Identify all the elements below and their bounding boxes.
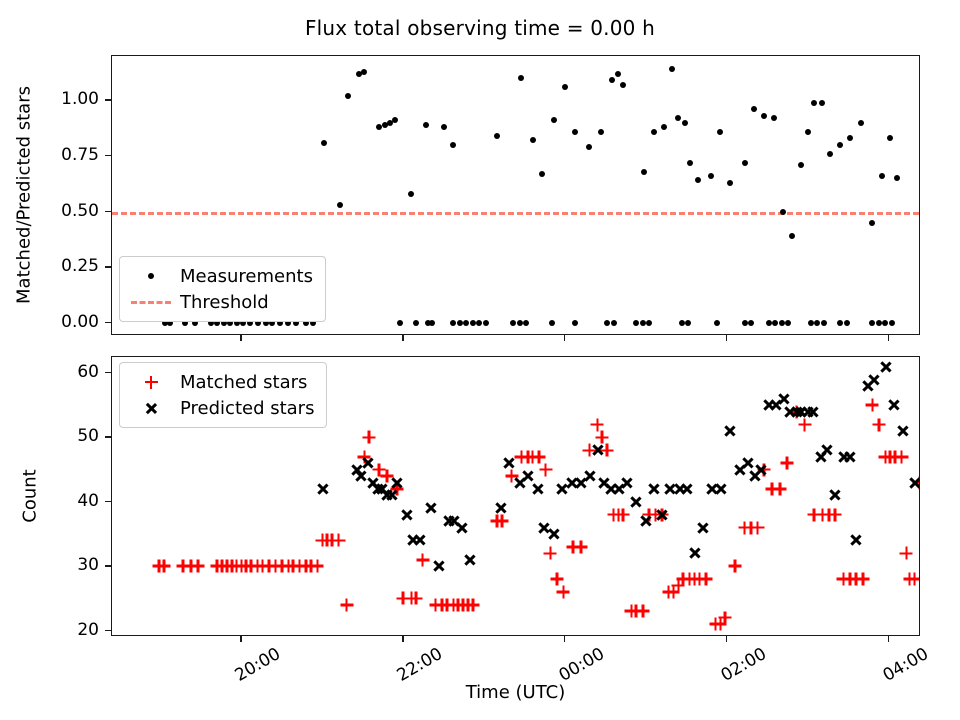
- data-point-predicted-star: [513, 476, 526, 489]
- data-point-matched-star: [326, 534, 339, 547]
- data-point-predicted-star: [814, 450, 827, 463]
- data-point-measurement: [766, 320, 772, 326]
- data-point-measurement: [695, 177, 701, 183]
- data-point-predicted-star: [350, 463, 363, 476]
- legend-item-matched-stars: Matched stars: [128, 369, 314, 395]
- x-tick-label: 20:00: [232, 644, 284, 686]
- legend-label-predicted-stars: Predicted stars: [174, 398, 314, 419]
- x-tick-mark: [888, 636, 889, 642]
- data-point-matched-star: [895, 450, 908, 463]
- data-point-measurement: [708, 173, 714, 179]
- data-point-matched-star: [780, 457, 793, 470]
- data-point-matched-star: [185, 560, 198, 573]
- data-point-matched-star: [211, 560, 224, 573]
- data-point-measurement: [811, 100, 817, 106]
- data-point-predicted-star: [801, 405, 814, 418]
- data-point-matched-star: [220, 560, 233, 573]
- data-point-matched-star: [816, 508, 829, 521]
- data-point-matched-star: [225, 560, 238, 573]
- data-point-predicted-star: [733, 463, 746, 476]
- data-point-predicted-star: [861, 379, 874, 392]
- data-point-matched-star: [591, 418, 604, 431]
- data-point-measurement: [337, 202, 343, 208]
- y-tick-mark: [105, 99, 111, 100]
- data-point-measurement: [518, 75, 524, 81]
- data-point-matched-star: [884, 450, 897, 463]
- data-point-measurement: [376, 124, 382, 130]
- data-point-predicted-star: [447, 515, 460, 528]
- bottom-panel-xlabel: Time (UTC): [111, 682, 920, 703]
- data-point-matched-star: [719, 611, 732, 624]
- data-point-measurement: [772, 320, 778, 326]
- data-point-predicted-star: [664, 482, 677, 495]
- data-point-measurement: [598, 129, 604, 135]
- data-point-matched-star: [372, 463, 385, 476]
- x-tick-mark: [564, 636, 565, 642]
- data-point-matched-star: [714, 618, 727, 631]
- legend-label-threshold: Threshold: [174, 292, 269, 313]
- data-point-matched-star: [230, 560, 243, 573]
- data-point-measurement: [549, 320, 555, 326]
- data-point-matched-star: [575, 540, 588, 553]
- data-point-predicted-star: [424, 502, 437, 515]
- data-point-measurement: [609, 77, 615, 83]
- x-tick-label: 22:00: [394, 644, 446, 686]
- data-point-predicted-star: [748, 470, 761, 483]
- data-point-measurement: [611, 320, 617, 326]
- data-point-matched-star: [287, 560, 300, 573]
- data-point-matched-star: [583, 444, 596, 457]
- data-point-measurement: [727, 180, 733, 186]
- data-point-predicted-star: [696, 521, 709, 534]
- data-point-matched-star: [381, 470, 394, 483]
- matched-plus-icon: [128, 372, 174, 392]
- data-point-matched-star: [850, 573, 863, 586]
- data-point-predicted-star: [795, 405, 808, 418]
- data-point-measurement: [847, 135, 853, 141]
- y-tick-label: 60: [0, 362, 99, 382]
- data-point-predicted-star: [790, 405, 803, 418]
- data-point-measurement: [798, 162, 804, 168]
- data-point-matched-star: [491, 515, 504, 528]
- data-point-matched-star: [429, 598, 442, 611]
- data-point-predicted-star: [769, 399, 782, 412]
- data-point-measurement: [450, 320, 456, 326]
- data-point-matched-star: [440, 598, 453, 611]
- data-point-measurement: [882, 320, 888, 326]
- data-point-measurement: [785, 320, 791, 326]
- data-point-predicted-star: [639, 515, 652, 528]
- data-point-measurement: [620, 82, 626, 88]
- data-point-measurement: [858, 120, 864, 126]
- data-point-measurement: [687, 160, 693, 166]
- data-point-predicted-star: [366, 476, 379, 489]
- data-point-matched-star: [521, 450, 534, 463]
- data-point-predicted-star: [355, 470, 368, 483]
- data-point-matched-star: [269, 560, 282, 573]
- data-point-matched-star: [533, 450, 546, 463]
- data-point-measurement: [523, 320, 529, 326]
- data-point-measurement: [441, 124, 447, 130]
- data-point-predicted-star: [762, 399, 775, 412]
- data-point-measurement: [646, 320, 652, 326]
- data-point-matched-star: [837, 573, 850, 586]
- data-point-matched-star: [416, 553, 429, 566]
- data-point-predicted-star: [673, 482, 686, 495]
- y-tick-mark: [105, 436, 111, 437]
- data-point-measurement: [517, 320, 523, 326]
- data-point-matched-star: [699, 573, 712, 586]
- data-point-matched-star: [316, 534, 329, 547]
- data-point-matched-star: [505, 470, 518, 483]
- data-point-matched-star: [539, 463, 552, 476]
- data-point-measurement: [572, 320, 578, 326]
- data-point-matched-star: [216, 560, 229, 573]
- data-point-measurement: [837, 320, 843, 326]
- data-point-matched-star: [447, 598, 460, 611]
- data-point-measurement: [397, 320, 403, 326]
- data-point-matched-star: [363, 431, 376, 444]
- data-point-measurement: [604, 320, 610, 326]
- data-point-matched-star: [550, 573, 563, 586]
- data-point-matched-star: [340, 598, 353, 611]
- data-point-predicted-star: [656, 508, 669, 521]
- data-point-matched-star: [636, 605, 649, 618]
- data-point-measurement: [682, 120, 688, 126]
- bottom-panel-legend: Matched stars Predicted stars: [119, 362, 327, 428]
- data-point-matched-star: [758, 463, 771, 476]
- data-point-measurement: [530, 137, 536, 143]
- data-point-measurement: [651, 129, 657, 135]
- y-tick-label: 50: [0, 426, 99, 446]
- data-point-measurement: [894, 175, 900, 181]
- data-point-predicted-star: [837, 450, 850, 463]
- data-point-predicted-star: [908, 476, 920, 489]
- data-point-matched-star: [908, 573, 920, 586]
- data-point-measurement: [463, 320, 469, 326]
- data-point-predicted-star: [620, 476, 633, 489]
- data-point-measurement: [779, 320, 785, 326]
- data-point-measurement: [669, 66, 675, 72]
- data-point-matched-star: [358, 450, 371, 463]
- data-point-measurement: [869, 320, 875, 326]
- data-point-predicted-star: [724, 425, 737, 438]
- data-point-matched-star: [900, 547, 913, 560]
- page-title: Flux total observing time = 0.00 h: [0, 16, 960, 40]
- data-point-predicted-star: [381, 489, 394, 502]
- data-point-predicted-star: [591, 444, 604, 457]
- data-point-matched-star: [643, 508, 656, 521]
- data-point-predicted-star: [583, 470, 596, 483]
- data-point-measurement: [685, 320, 691, 326]
- data-point-matched-star: [683, 573, 696, 586]
- data-point-measurement: [562, 84, 568, 90]
- threshold-line: [112, 212, 919, 215]
- data-point-measurement: [879, 173, 885, 179]
- data-point-predicted-star: [385, 489, 398, 502]
- data-point-predicted-star: [741, 457, 754, 470]
- data-point-matched-star: [866, 399, 879, 412]
- data-point-predicted-star: [376, 482, 389, 495]
- data-point-measurement: [510, 320, 516, 326]
- data-point-predicted-star: [887, 399, 900, 412]
- data-point-predicted-star: [688, 547, 701, 560]
- data-point-matched-star: [321, 534, 334, 547]
- data-point-matched-star: [177, 560, 190, 573]
- data-point-measurement: [869, 220, 875, 226]
- x-tick-mark: [240, 335, 241, 341]
- data-point-matched-star: [617, 508, 630, 521]
- data-point-matched-star: [889, 450, 902, 463]
- data-point-predicted-star: [706, 482, 719, 495]
- data-point-matched-star: [282, 560, 295, 573]
- legend-label-measurements: Measurements: [174, 266, 313, 287]
- data-point-measurement: [679, 320, 685, 326]
- y-tick-mark: [105, 565, 111, 566]
- data-point-matched-star: [457, 598, 470, 611]
- data-point-matched-star: [240, 560, 253, 573]
- data-point-measurement: [494, 133, 500, 139]
- data-point-predicted-star: [502, 457, 515, 470]
- data-point-predicted-star: [630, 495, 643, 508]
- data-point-predicted-star: [879, 360, 892, 373]
- data-point-measurement: [457, 320, 463, 326]
- data-point-matched-star: [728, 560, 741, 573]
- data-point-measurement: [887, 135, 893, 141]
- data-point-predicted-star: [538, 521, 551, 534]
- x-tick-mark: [726, 636, 727, 642]
- data-point-predicted-star: [455, 521, 468, 534]
- matplotlib-figure: Flux total observing time = 0.00 h 0.000…: [0, 0, 960, 720]
- data-point-measurement: [814, 320, 820, 326]
- data-point-measurement: [413, 320, 419, 326]
- data-point-matched-star: [798, 418, 811, 431]
- data-point-measurement: [876, 320, 882, 326]
- data-point-matched-star: [649, 508, 662, 521]
- data-point-matched-star: [677, 573, 690, 586]
- data-point-matched-star: [515, 450, 528, 463]
- data-point-measurement: [633, 320, 639, 326]
- data-point-measurement: [742, 320, 748, 326]
- data-point-matched-star: [452, 598, 465, 611]
- data-point-matched-star: [766, 482, 779, 495]
- data-point-predicted-star: [806, 405, 819, 418]
- data-point-predicted-star: [680, 482, 693, 495]
- data-point-matched-star: [235, 560, 248, 573]
- data-point-predicted-star: [821, 444, 834, 457]
- data-point-predicted-star: [783, 405, 796, 418]
- data-point-measurement: [789, 233, 795, 239]
- x-tick-mark: [402, 335, 403, 341]
- x-tick-mark: [402, 636, 403, 642]
- y-tick-mark: [105, 155, 111, 156]
- data-point-matched-star: [630, 605, 643, 618]
- data-point-predicted-star: [413, 534, 426, 547]
- data-point-predicted-star: [432, 560, 445, 573]
- data-point-matched-star: [544, 547, 557, 560]
- data-point-measurement: [470, 320, 476, 326]
- data-point-matched-star: [311, 560, 324, 573]
- y-tick-label: 0.00: [0, 312, 99, 332]
- data-point-measurement: [539, 171, 545, 177]
- data-point-predicted-star: [850, 534, 863, 547]
- data-point-measurement: [819, 100, 825, 106]
- x-tick-mark: [240, 636, 241, 642]
- data-point-measurement: [641, 169, 647, 175]
- data-point-matched-star: [656, 508, 669, 521]
- bottom-panel-ylabel: Count: [20, 469, 41, 522]
- data-point-measurement: [771, 115, 777, 121]
- y-tick-label: 40: [0, 491, 99, 511]
- y-tick-label: 20: [0, 620, 99, 640]
- data-point-measurement: [429, 320, 435, 326]
- data-point-predicted-star: [565, 476, 578, 489]
- data-point-matched-star: [245, 560, 258, 573]
- data-point-predicted-star: [547, 528, 560, 541]
- legend-item-predicted-stars: Predicted stars: [128, 395, 314, 421]
- data-point-measurement: [844, 320, 850, 326]
- data-point-matched-star: [526, 450, 539, 463]
- data-point-predicted-star: [371, 482, 384, 495]
- data-point-matched-star: [436, 598, 449, 611]
- data-point-measurement: [640, 320, 646, 326]
- data-point-matched-star: [293, 560, 306, 573]
- data-point-matched-star: [157, 560, 170, 573]
- data-point-matched-star: [405, 592, 418, 605]
- data-point-matched-star: [843, 573, 856, 586]
- data-point-predicted-star: [868, 373, 881, 386]
- data-point-predicted-star: [463, 553, 476, 566]
- data-point-measurement: [821, 320, 827, 326]
- data-point-measurement: [450, 142, 456, 148]
- data-point-predicted-star: [531, 482, 544, 495]
- measurements-dot-icon: [128, 266, 174, 286]
- data-point-matched-star: [557, 585, 570, 598]
- data-point-matched-star: [256, 560, 269, 573]
- data-point-matched-star: [332, 534, 345, 547]
- data-point-matched-star: [461, 598, 474, 611]
- data-point-matched-star: [300, 560, 313, 573]
- data-point-predicted-star: [390, 476, 403, 489]
- data-point-measurement: [345, 93, 351, 99]
- data-point-measurement: [889, 320, 895, 326]
- predicted-cross-icon: [128, 398, 174, 418]
- data-point-matched-star: [495, 515, 508, 528]
- top-panel-ylabel: Matched/Predicted stars: [14, 86, 35, 304]
- x-tick-label: 00:00: [556, 644, 608, 686]
- data-point-measurement: [551, 117, 557, 123]
- data-point-measurement: [361, 69, 367, 75]
- data-point-matched-star: [607, 508, 620, 521]
- data-point-predicted-star: [406, 534, 419, 547]
- data-point-matched-star: [913, 476, 920, 489]
- data-point-measurement: [714, 320, 720, 326]
- data-point-measurement: [476, 320, 482, 326]
- data-point-measurement: [661, 124, 667, 130]
- data-point-matched-star: [738, 521, 751, 534]
- data-point-matched-star: [612, 508, 625, 521]
- data-point-predicted-star: [442, 515, 455, 528]
- data-point-matched-star: [410, 592, 423, 605]
- data-point-measurement: [392, 117, 398, 123]
- data-point-measurement: [742, 160, 748, 166]
- data-point-predicted-star: [777, 392, 790, 405]
- data-point-matched-star: [305, 560, 318, 573]
- data-point-matched-star: [601, 444, 614, 457]
- threshold-dash-icon: [128, 292, 174, 312]
- data-point-predicted-star: [612, 482, 625, 495]
- data-point-measurement: [586, 144, 592, 150]
- data-point-predicted-star: [555, 482, 568, 495]
- data-point-predicted-star: [316, 482, 329, 495]
- x-tick-mark: [564, 335, 565, 341]
- data-point-measurement: [748, 320, 754, 326]
- data-point-matched-star: [709, 618, 722, 631]
- data-point-matched-star: [856, 573, 869, 586]
- data-point-matched-star: [808, 508, 821, 521]
- data-point-matched-star: [688, 573, 701, 586]
- y-tick-label: 30: [0, 555, 99, 575]
- data-point-matched-star: [397, 592, 410, 605]
- data-point-predicted-star: [521, 470, 534, 483]
- data-point-measurement: [780, 209, 786, 215]
- data-point-predicted-star: [361, 457, 374, 470]
- data-point-matched-star: [903, 573, 916, 586]
- data-point-measurement: [423, 122, 429, 128]
- data-point-measurement: [408, 191, 414, 197]
- x-tick-label: 04:00: [879, 644, 931, 686]
- top-panel-legend: Measurements Threshold: [119, 256, 326, 322]
- data-point-measurement: [572, 129, 578, 135]
- data-point-measurement: [675, 115, 681, 121]
- data-point-measurement: [321, 140, 327, 146]
- data-point-matched-star: [251, 560, 264, 573]
- data-point-matched-star: [829, 508, 842, 521]
- data-point-matched-star: [790, 405, 803, 418]
- y-tick-mark: [105, 211, 111, 212]
- data-point-matched-star: [822, 508, 835, 521]
- y-tick-mark: [105, 372, 111, 373]
- data-point-predicted-star: [829, 489, 842, 502]
- data-point-matched-star: [667, 585, 680, 598]
- data-point-matched-star: [262, 560, 275, 573]
- data-point-matched-star: [879, 450, 892, 463]
- data-point-measurement: [615, 71, 621, 77]
- legend-item-measurements: Measurements: [128, 263, 313, 289]
- data-point-predicted-star: [494, 502, 507, 515]
- data-point-predicted-star: [897, 425, 910, 438]
- data-point-predicted-star: [754, 463, 767, 476]
- data-point-measurement: [751, 106, 757, 112]
- data-point-matched-star: [672, 579, 685, 592]
- data-point-predicted-star: [843, 450, 856, 463]
- y-tick-mark: [105, 630, 111, 631]
- data-point-matched-star: [625, 605, 638, 618]
- data-point-measurement: [808, 320, 814, 326]
- data-point-matched-star: [662, 585, 675, 598]
- data-point-matched-star: [693, 573, 706, 586]
- data-point-measurement: [805, 129, 811, 135]
- y-tick-mark: [105, 322, 111, 323]
- data-point-predicted-star: [714, 482, 727, 495]
- data-point-matched-star: [872, 418, 885, 431]
- data-point-matched-star: [751, 521, 764, 534]
- data-point-matched-star: [191, 560, 204, 573]
- y-tick-mark: [105, 266, 111, 267]
- data-point-matched-star: [390, 482, 403, 495]
- data-point-predicted-star: [648, 482, 661, 495]
- data-point-matched-star: [745, 521, 758, 534]
